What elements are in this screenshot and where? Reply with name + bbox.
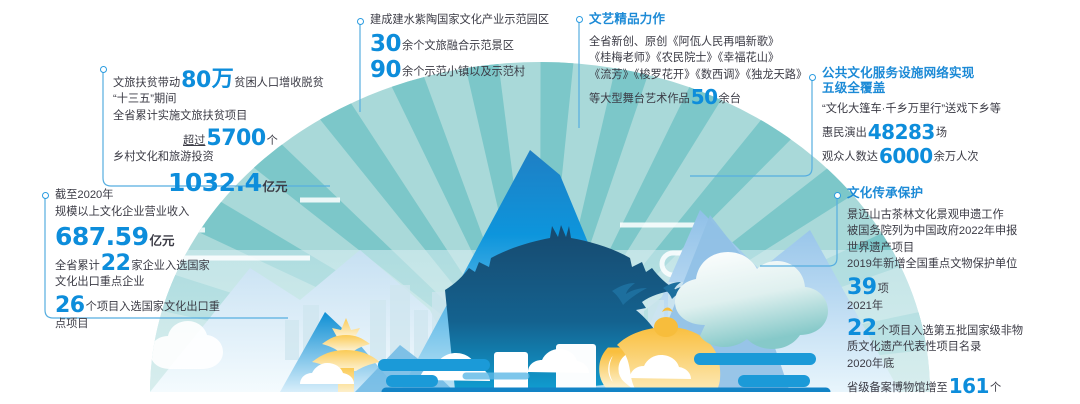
infographic-canvas: 文旅扶贫带动 80 万 贫困人口增收脱贫 “十三五”期间 全省累计实施文旅扶贫项… bbox=[0, 0, 1080, 404]
ent-l6-number: 26 bbox=[55, 293, 85, 318]
block-performing-arts: 文艺精品力作 全省新创、原创《阿佤人民再唱新歌》 《桂梅老师》《农民院士》《幸福… bbox=[589, 12, 807, 107]
demo-l3-post: 余个示范小镇以及示范村 bbox=[402, 64, 525, 81]
heritage-l10-number: 161 bbox=[949, 374, 989, 398]
block-demonstration-zones: 建成建水紫陶国家文化产业示范园区 30 余个文旅融合示范景区 90 余个示范小镇… bbox=[370, 12, 549, 81]
heritage-l10-post: 个 bbox=[990, 380, 1001, 397]
heritage-line-2: 被国务院列为中国政府2022年申报 bbox=[847, 223, 1023, 240]
public-l3-pre: 观众人数达 bbox=[822, 149, 878, 166]
heritage-l7-number: 22 bbox=[847, 316, 877, 341]
demo-line-3: 90 余个示范小镇以及示范村 bbox=[370, 55, 549, 81]
ent-l4-number: 22 bbox=[101, 251, 131, 276]
public-l2-number: 48283 bbox=[868, 120, 935, 144]
block-poverty-alleviation: 文旅扶贫带动 80 万 贫困人口增收脱贫 “十三五”期间 全省累计实施文旅扶贫项… bbox=[113, 59, 324, 195]
public-l2-pre: 惠民演出 bbox=[822, 125, 867, 142]
anchor-dot-heritage bbox=[834, 192, 841, 199]
ent-line-7: 点项目 bbox=[55, 316, 220, 333]
heritage-heading: 文化传承保护 bbox=[847, 186, 1023, 201]
heritage-l5-unit: 项 bbox=[878, 281, 889, 298]
public-l3-post: 余万人次 bbox=[934, 149, 979, 166]
arts-line-1: 全省新创、原创《阿佤人民再唱新歌》 bbox=[589, 34, 807, 51]
arts-l4-post: 余台 bbox=[719, 91, 741, 108]
ent-l3-number: 687.59 bbox=[55, 222, 148, 251]
arts-line-2: 《桂梅老师》《农民院士》《幸福花山》 bbox=[589, 50, 807, 67]
arts-heading: 文艺精品力作 bbox=[589, 12, 807, 27]
heritage-line-10: 省级备案博物馆增至 161 个 bbox=[847, 372, 1023, 396]
heritage-line-6: 2021年 bbox=[847, 298, 1023, 315]
poverty-l6-unit: 亿元 bbox=[262, 176, 287, 195]
poverty-l1-number-unit: 万 bbox=[212, 61, 234, 93]
demo-l2-post: 余个文旅融合示范景区 bbox=[402, 38, 514, 55]
ent-line-2: 规模以上文化企业营业收入 bbox=[55, 204, 220, 221]
poverty-line-5: 乡村文化和旅游投资 bbox=[113, 149, 324, 166]
poverty-line-4: 超过 5700 个 bbox=[113, 124, 324, 149]
heritage-l7-post: 个项目入选第五批国家级非物 bbox=[878, 323, 1023, 340]
public-line-1: “文化大篷车·千乡万里行”送戏下乡等 bbox=[822, 101, 1001, 118]
public-heading-line-2: 五级全覆盖 bbox=[822, 81, 1001, 96]
heritage-l10-pre: 省级备案博物馆增至 bbox=[847, 380, 948, 397]
demo-line-2: 30 余个文旅融合示范景区 bbox=[370, 29, 549, 55]
public-heading-line-1: 公共文化服务设施网络实现 bbox=[822, 66, 1001, 81]
poverty-l4-unit: 个 bbox=[267, 133, 278, 150]
ent-line-5: 文化出口重点企业 bbox=[55, 274, 220, 291]
arts-line-4: 等大型舞台艺术作品 50 余台 bbox=[589, 83, 807, 107]
ent-l4-pre: 全省累计 bbox=[55, 258, 100, 275]
heritage-line-4: 2019年新增全国重点文物保护单位 bbox=[847, 256, 1023, 273]
heritage-line-7: 22 个项目入选第五批国家级非物 bbox=[847, 314, 1023, 339]
anchor-dot-demo-zones bbox=[357, 18, 364, 25]
heritage-line-1: 景迈山古茶林文化景观申遗工作 bbox=[847, 207, 1023, 224]
arts-l4-number: 50 bbox=[691, 85, 718, 109]
anchor-dot-poverty bbox=[100, 66, 107, 73]
public-l2-post: 场 bbox=[936, 125, 947, 142]
poverty-l1-number: 80 bbox=[181, 68, 211, 93]
ent-line-4: 全省累计 22 家企业入选国家 bbox=[55, 249, 220, 274]
demo-line-1: 建成建水紫陶国家文化产业示范园区 bbox=[370, 12, 549, 29]
heritage-line-9: 2020年底 bbox=[847, 356, 1023, 373]
ent-l6-post: 个项目入选国家文化出口重 bbox=[86, 299, 220, 316]
ent-l3-unit: 亿元 bbox=[149, 230, 174, 249]
heritage-line-5: 39 项 bbox=[847, 273, 1023, 298]
heritage-l5-number: 39 bbox=[847, 275, 877, 300]
anchor-dot-arts bbox=[576, 16, 583, 23]
public-line-2: 惠民演出 48283 场 bbox=[822, 118, 1001, 142]
arts-line-3: 《流芳》《梭罗花开》《数西调》《独龙天路》 bbox=[589, 67, 807, 84]
arts-l4-pre: 等大型舞台艺术作品 bbox=[589, 91, 690, 108]
block-public-culture-service: 公共文化服务设施网络实现 五级全覆盖 “文化大篷车·千乡万里行”送戏下乡等 惠民… bbox=[822, 66, 1001, 166]
heritage-line-3: 世界遗产项目 bbox=[847, 240, 1023, 257]
poverty-line-3: 全省累计实施文旅扶贫项目 bbox=[113, 108, 324, 125]
demo-l2-number: 30 bbox=[370, 31, 401, 57]
poverty-line-1: 文旅扶贫带动 80 万 贫困人口增收脱贫 bbox=[113, 59, 324, 91]
ent-l4-post: 家企业入选国家 bbox=[131, 258, 209, 275]
poverty-l4-number: 5700 bbox=[206, 126, 265, 151]
block-heritage-protection: 文化传承保护 景迈山古茶林文化景观申遗工作 被国务院列为中国政府2022年申报 … bbox=[847, 186, 1023, 396]
poverty-l1-pre: 文旅扶贫带动 bbox=[113, 75, 180, 92]
demo-l3-number: 90 bbox=[370, 57, 401, 83]
poverty-line-2: “十三五”期间 bbox=[113, 91, 324, 108]
public-l3-number: 6000 bbox=[879, 144, 933, 168]
poverty-l1-post: 贫困人口增收脱贫 bbox=[234, 75, 324, 92]
ent-line-1: 截至2020年 bbox=[55, 187, 220, 204]
ent-line-6: 26 个项目入选国家文化出口重 bbox=[55, 291, 220, 316]
heritage-line-8: 质文化遗产代表性项目名录 bbox=[847, 339, 1023, 356]
public-line-3: 观众人数达 6000 余万人次 bbox=[822, 142, 1001, 166]
block-cultural-enterprises: 截至2020年 规模以上文化企业营业收入 687.59 亿元 全省累计 22 家… bbox=[55, 187, 220, 332]
ent-line-3: 687.59 亿元 bbox=[55, 220, 220, 249]
poverty-l4-pre: 超过 bbox=[183, 133, 205, 150]
anchor-dot-public-service bbox=[809, 74, 816, 81]
anchor-dot-enterprises bbox=[42, 192, 49, 199]
